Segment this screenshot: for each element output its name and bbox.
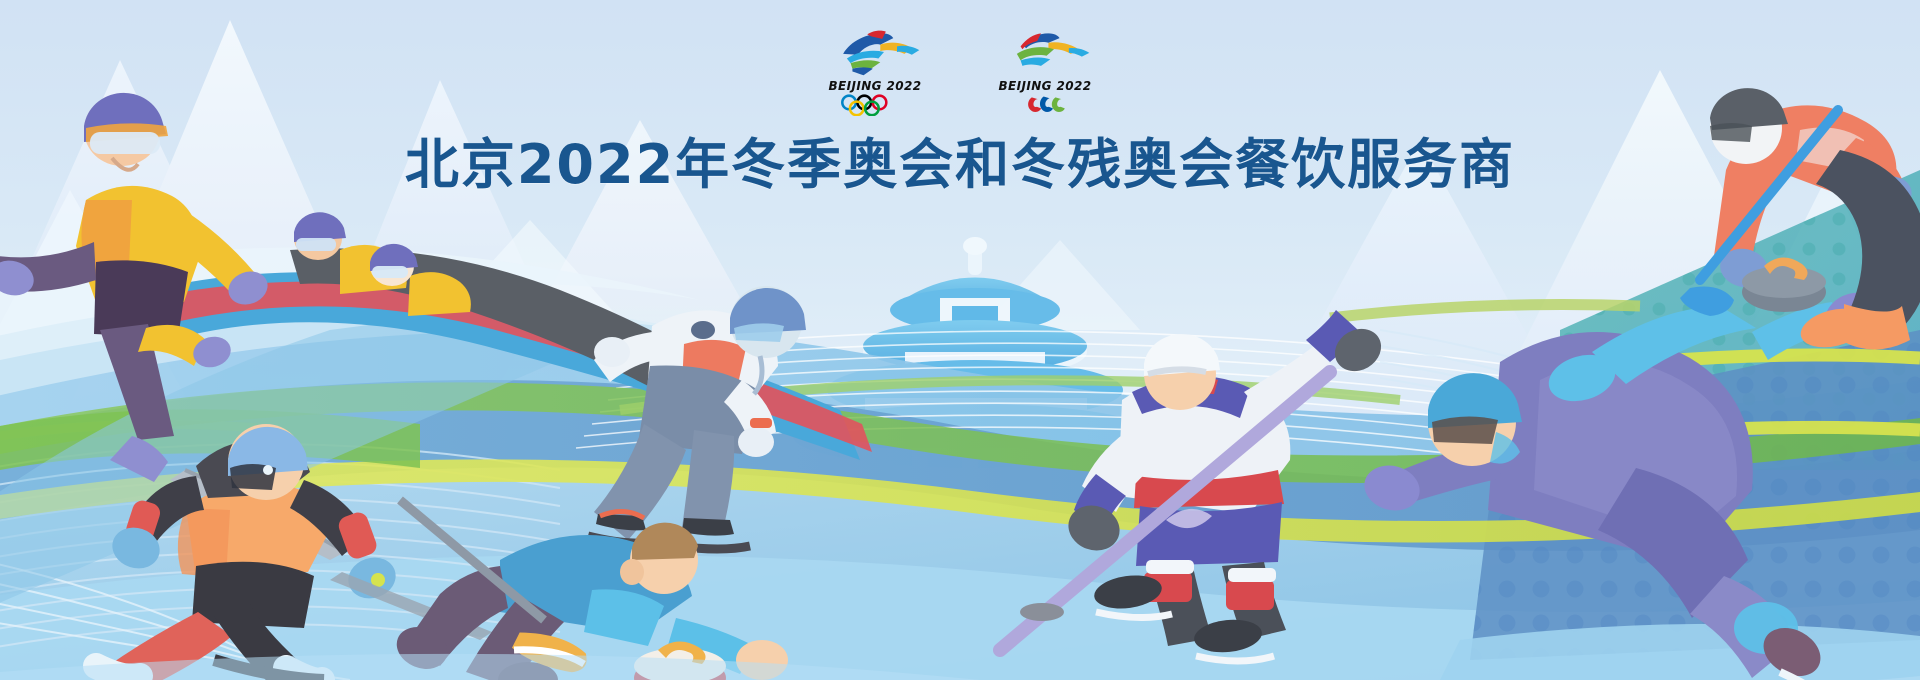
goggles — [296, 238, 336, 251]
glove-2 — [738, 427, 774, 457]
hockey-puck — [1020, 603, 1064, 621]
goggles — [1432, 416, 1498, 444]
sock-stripe-2 — [1226, 580, 1274, 610]
visor — [734, 323, 784, 342]
beijing-2022-olympic-emblem: BEIJING 2022 — [819, 26, 931, 116]
page-title: 北京2022年冬季奥会和冬残奥会餐饮服务商 — [0, 120, 1920, 199]
goggles — [372, 266, 408, 278]
winter-olympics-banner: BEIJING 2022 BEIJING 20 — [0, 0, 1920, 680]
olympic-emblem-mark — [819, 26, 930, 78]
paralympic-emblem-mark — [989, 26, 1100, 78]
title-container: 北京2022年冬季奥会和冬残奥会餐饮服务商 — [0, 120, 1920, 199]
ear — [620, 559, 644, 585]
olympic-wordmark: BEIJING 2022 — [819, 80, 931, 92]
paralympic-wordmark: BEIJING 2022 — [989, 80, 1101, 92]
beijing-2022-paralympic-emblem: BEIJING 2022 — [989, 26, 1101, 116]
paralympic-agitos-icon — [1003, 94, 1088, 116]
emblem-row: BEIJING 2022 BEIJING 20 — [0, 26, 1920, 116]
glove — [594, 337, 630, 367]
olympic-rings-icon — [833, 94, 918, 116]
